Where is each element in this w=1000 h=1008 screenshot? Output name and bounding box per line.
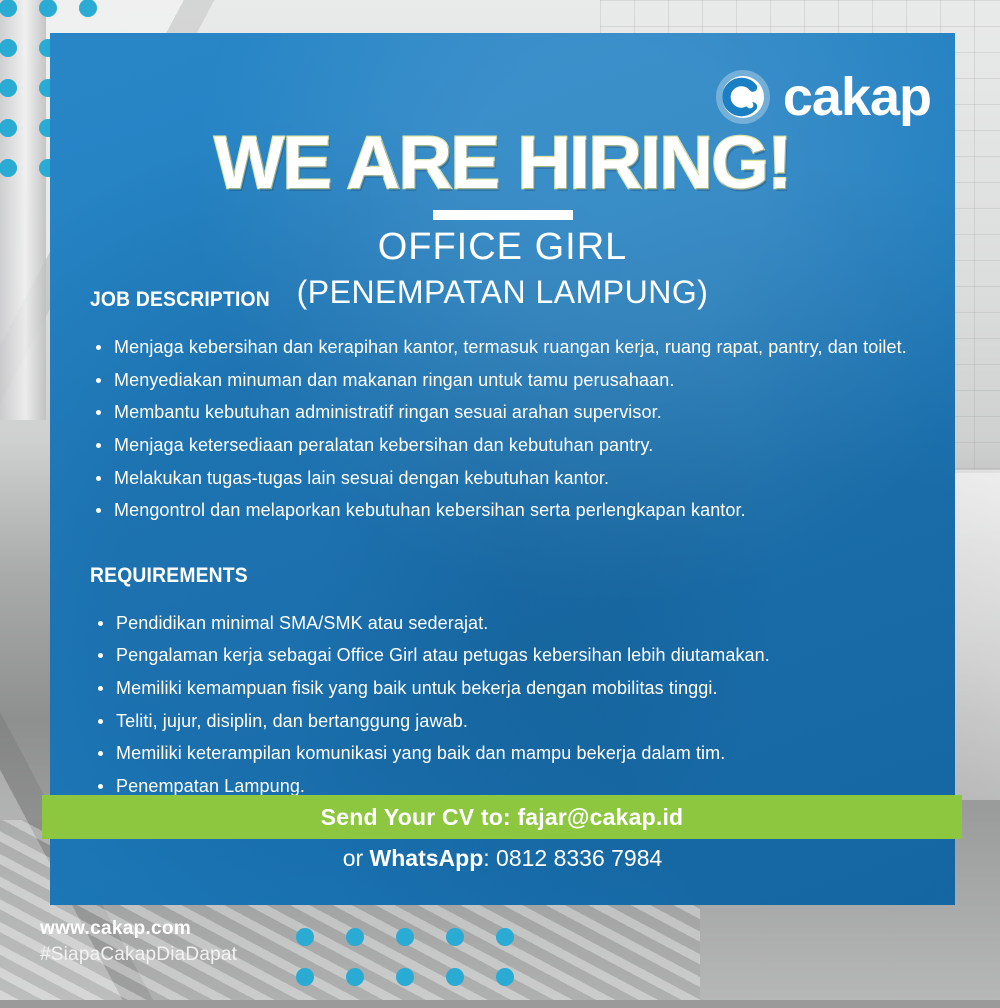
requirements-section: REQUIREMENTS Pendidikan minimal SMA/SMK … bbox=[90, 564, 915, 800]
decorative-dot bbox=[496, 928, 514, 946]
decorative-dot bbox=[446, 928, 464, 946]
decorative-dot bbox=[39, 0, 57, 17]
footer-hashtag: #SiapaCakapDiaDapat bbox=[40, 942, 237, 968]
decorative-dot bbox=[446, 968, 464, 986]
decorative-dot bbox=[346, 928, 364, 946]
cta-email-band: Send Your CV to: fajar@cakap.id bbox=[42, 795, 962, 839]
headline-block: WE ARE HIRING! OFFICE GIRL (PENEMPATAN L… bbox=[50, 126, 955, 312]
list-item: Menyediakan minuman dan makanan ringan u… bbox=[90, 367, 915, 394]
list-item: Teliti, jujur, disiplin, dan bertanggung… bbox=[90, 708, 915, 735]
headline-underline-rule bbox=[433, 210, 573, 220]
cta-whatsapp-separator: : bbox=[483, 845, 496, 871]
cta-whatsapp-prefix: or bbox=[343, 845, 370, 871]
footer-website[interactable]: www.cakap.com bbox=[40, 916, 237, 942]
list-item: Memiliki keterampilan komunikasi yang ba… bbox=[90, 740, 915, 767]
decorative-dot bbox=[396, 968, 414, 986]
decorative-dot bbox=[0, 0, 17, 17]
cta-email-text[interactable]: Send Your CV to: fajar@cakap.id bbox=[321, 804, 684, 831]
decorative-dot bbox=[0, 159, 17, 177]
cta-whatsapp-number[interactable]: 0812 8336 7984 bbox=[496, 845, 662, 871]
cta-whatsapp-label: WhatsApp bbox=[370, 845, 484, 871]
list-item: Mengontrol dan melaporkan kebutuhan kebe… bbox=[90, 497, 915, 524]
list-item: Pengalaman kerja sebagai Office Girl ata… bbox=[90, 642, 915, 669]
footer: www.cakap.com #SiapaCakapDiaDapat bbox=[40, 916, 237, 967]
decorative-dot-grid-bottom bbox=[296, 928, 546, 1008]
decorative-dot bbox=[79, 0, 97, 17]
headline-we-are-hiring: WE ARE HIRING! bbox=[50, 126, 955, 200]
list-item: Menjaga ketersediaan peralatan kebersiha… bbox=[90, 432, 915, 459]
cakap-circle-c-logo-icon bbox=[715, 69, 771, 125]
requirements-list: Pendidikan minimal SMA/SMK atau sederaja… bbox=[90, 610, 915, 800]
list-item: Memiliki kemampuan fisik yang baik untuk… bbox=[90, 675, 915, 702]
job-description-title: JOB DESCRIPTION bbox=[90, 288, 849, 312]
job-description-list: Menjaga kebersihan dan kerapihan kantor,… bbox=[90, 334, 915, 524]
decorative-dot bbox=[0, 79, 17, 97]
list-item: Pendidikan minimal SMA/SMK atau sederaja… bbox=[90, 610, 915, 637]
decorative-dot bbox=[0, 39, 17, 57]
decorative-dot bbox=[396, 928, 414, 946]
job-description-section: JOB DESCRIPTION Menjaga kebersihan dan k… bbox=[90, 288, 915, 524]
decorative-dot bbox=[496, 968, 514, 986]
content-area: JOB DESCRIPTION Menjaga kebersihan dan k… bbox=[90, 288, 915, 806]
decorative-dot bbox=[346, 968, 364, 986]
headline-role: OFFICE GIRL bbox=[50, 226, 955, 270]
list-item: Membantu kebutuhan administratif ringan … bbox=[90, 399, 915, 426]
cta-whatsapp-line: or WhatsApp: 0812 8336 7984 bbox=[50, 845, 955, 872]
poster-panel: cakap WE ARE HIRING! OFFICE GIRL (PENEMP… bbox=[50, 33, 955, 905]
decorative-dot bbox=[0, 119, 17, 137]
brand-wordmark: cakap bbox=[783, 70, 931, 124]
list-item: Melakukan tugas-tugas lain sesuai dengan… bbox=[90, 465, 915, 492]
brand-logo: cakap bbox=[715, 69, 931, 125]
list-item: Menjaga kebersihan dan kerapihan kantor,… bbox=[90, 334, 915, 361]
decorative-dot bbox=[296, 968, 314, 986]
decorative-dot bbox=[296, 928, 314, 946]
requirements-title: REQUIREMENTS bbox=[90, 564, 849, 588]
